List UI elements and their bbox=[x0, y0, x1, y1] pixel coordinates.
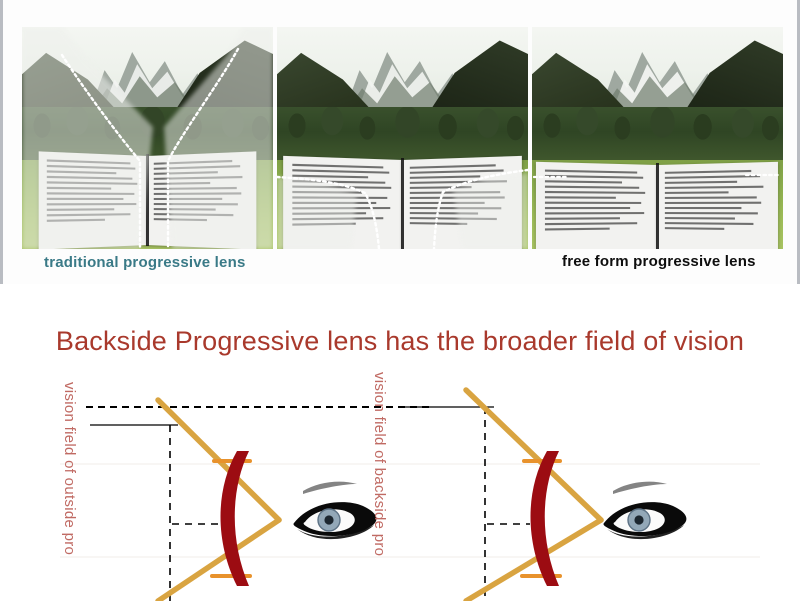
pupil bbox=[634, 515, 643, 524]
photo-scene bbox=[532, 27, 783, 249]
photo-comparison-section: traditional progressive lens free form p… bbox=[0, 0, 800, 284]
clear-zone-boundary bbox=[532, 27, 783, 249]
photo-row bbox=[22, 27, 784, 249]
photo-panel-traditional bbox=[22, 27, 273, 249]
label-vision-field-of-backside-progressive: vision field of backside pro bbox=[371, 372, 388, 556]
page-title: Backside Progressive lens has the broade… bbox=[0, 326, 800, 357]
label-vision-field-of-outside-progressive: vision field of outside pro bbox=[61, 382, 78, 555]
clear-zone-boundary bbox=[22, 27, 273, 249]
ray-paths bbox=[158, 400, 279, 601]
pupil bbox=[324, 515, 333, 524]
eye-illustration bbox=[603, 482, 686, 540]
lens-cross-section bbox=[531, 451, 560, 586]
caption-free-form-progressive-lens: free form progressive lens bbox=[562, 253, 756, 270]
photo-scene bbox=[22, 27, 273, 249]
lens-cross-section bbox=[221, 451, 250, 586]
diagram-right-backside-progressive bbox=[398, 390, 686, 601]
diagram-left-outside-progressive bbox=[86, 400, 398, 601]
eye-illustration bbox=[293, 482, 376, 540]
diagram-svg bbox=[0, 372, 800, 601]
eyebrow-icon bbox=[613, 482, 667, 494]
lens-field-of-vision-diagram bbox=[0, 372, 800, 601]
photo-panel-mid bbox=[277, 27, 528, 249]
page-root: traditional progressive lens free form p… bbox=[0, 0, 800, 601]
photo-panel-freeform bbox=[532, 27, 783, 249]
clear-zone-boundary bbox=[277, 27, 528, 249]
photo-scene bbox=[277, 27, 528, 249]
eyebrow-icon bbox=[303, 482, 357, 494]
caption-traditional-progressive-lens: traditional progressive lens bbox=[44, 254, 246, 271]
